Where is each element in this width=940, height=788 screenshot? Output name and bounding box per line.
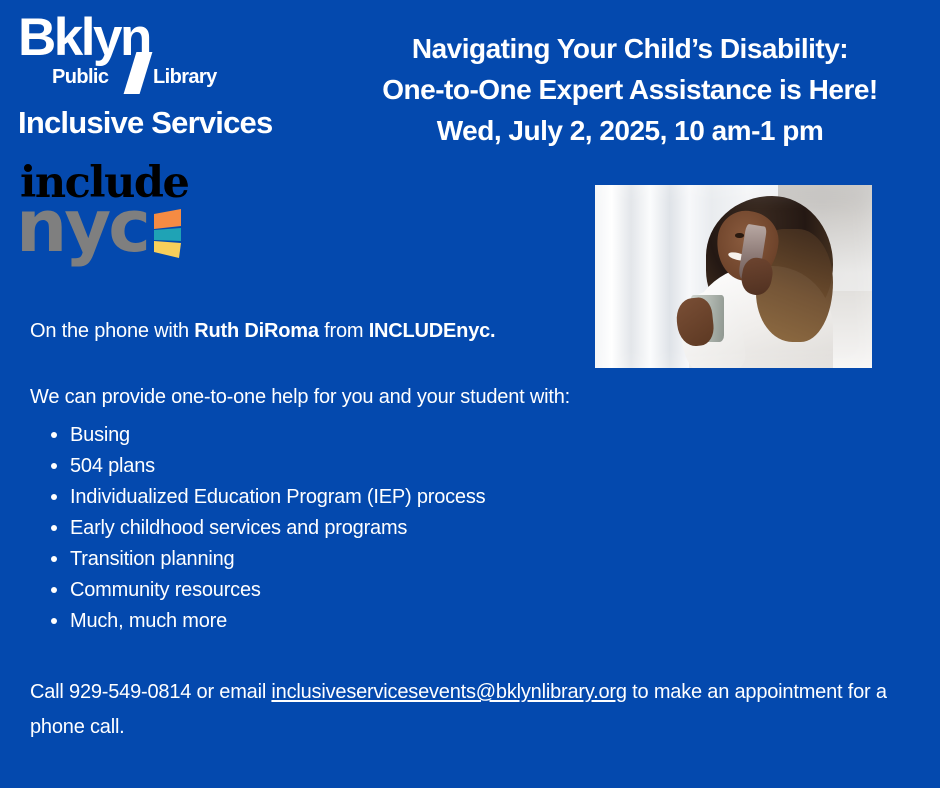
services-bullet-list: Busing 504 plans Individualized Educatio… <box>44 420 485 637</box>
list-item-label: Transition planning <box>70 548 234 570</box>
list-item: Transition planning <box>70 544 485 575</box>
bullet-icon <box>51 463 57 469</box>
caption-person-name: Ruth DiRoma <box>194 320 318 342</box>
bullet-icon <box>51 587 57 593</box>
includenyc-nyc-text: nyc <box>16 190 148 262</box>
bklyn-sublogo: Public Library <box>52 66 237 90</box>
bullet-icon <box>51 432 57 438</box>
bklyn-public-library-logo: Bklyn Public Library <box>18 18 233 94</box>
headline-line-2: One-to-One Expert Assistance is Here! <box>330 69 930 110</box>
department-title: Inclusive Services <box>18 105 272 141</box>
list-item-label: 504 plans <box>70 455 155 477</box>
caption-middle: from <box>319 320 369 342</box>
bklyn-wordmark: Bklyn <box>18 13 150 63</box>
contact-block: Call 929-549-0814 or email inclusiveserv… <box>30 675 910 745</box>
list-item: Much, much more <box>70 606 485 637</box>
bullet-icon <box>51 525 57 531</box>
list-item: Early childhood services and programs <box>70 513 485 544</box>
list-item-label: Busing <box>70 424 130 446</box>
list-item: Individualized Education Program (IEP) p… <box>70 482 485 513</box>
bklyn-sublogo-library: Library <box>153 66 217 89</box>
bullet-icon <box>51 556 57 562</box>
list-item-label: Individualized Education Program (IEP) p… <box>70 486 485 508</box>
bklyn-sublogo-public: Public <box>52 66 108 89</box>
bullet-icon <box>51 494 57 500</box>
contact-email-link[interactable]: inclusiveservicesevents@bklynlibrary.org <box>271 681 626 703</box>
headline: Navigating Your Child’s Disability: One-… <box>330 28 930 151</box>
photo-soft-light-overlay <box>595 185 872 368</box>
headline-line-3: Wed, July 2, 2025, 10 am-1 pm <box>330 110 930 151</box>
intro-text: We can provide one-to-one help for you a… <box>30 386 570 409</box>
list-item-label: Early childhood services and programs <box>70 517 407 539</box>
list-item: Busing <box>70 420 485 451</box>
list-item-label: Community resources <box>70 579 261 601</box>
list-item: Community resources <box>70 575 485 606</box>
caption-organization: INCLUDEnyc. <box>369 320 496 342</box>
contact-phone-number: 929-549-0814 <box>69 681 191 703</box>
caption-on-the-phone-with: On the phone with Ruth DiRoma from INCLU… <box>30 320 495 343</box>
contact-prefix: Call <box>30 681 69 703</box>
includenyc-arc-icon <box>151 208 191 260</box>
headline-line-1: Navigating Your Child’s Disability: <box>330 28 930 69</box>
flyer-canvas: Bklyn Public Library Inclusive Services … <box>0 0 940 788</box>
photo-woman-on-phone <box>595 185 872 368</box>
caption-prefix: On the phone with <box>30 320 194 342</box>
bullet-icon <box>51 618 57 624</box>
list-item-label: Much, much more <box>70 610 227 632</box>
list-item: 504 plans <box>70 451 485 482</box>
contact-middle: or email <box>191 681 271 703</box>
